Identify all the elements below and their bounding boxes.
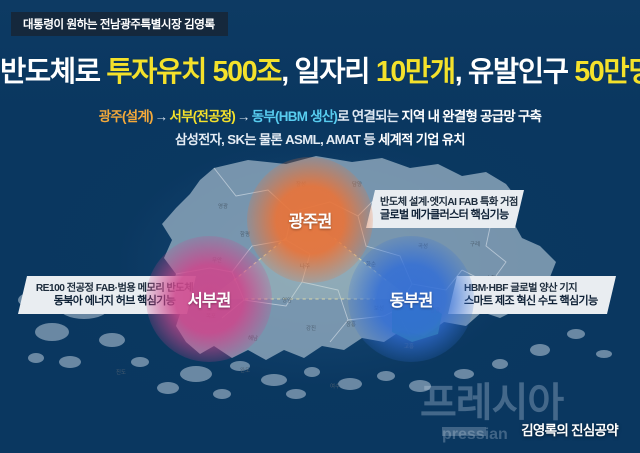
gwangju-panel-line2: 글로벌 메가클러스터 핵심기능 [380, 209, 524, 222]
subline2-bold: 세계적 기업 유치 [378, 132, 465, 147]
hub-node-seobu[interactable]: 서부권 [172, 262, 246, 336]
hub-node-dongbu[interactable]: 동부권 [374, 262, 448, 336]
page-headline: 반도체로 투자유치 500조, 일자리 10만개, 유발인구 50만명 [0, 58, 640, 87]
top-badge: 대통령이 원하는 전남광주특별시장 김영록 [11, 12, 228, 36]
dongbu-panel-line1: HBM·HBF 글로벌 양산 기지 [464, 283, 616, 295]
subline1-gwangju: 광주(설계) [99, 109, 153, 124]
headline-seg-2: , 일자리 [281, 56, 376, 88]
subheadline-line-1: 광주(설계)→서부(전공정)→동부(HBM 생산)로 연결되는 지역 내 완결형… [0, 110, 640, 123]
subline1-emphasis: 지역 내 완결형 공급망 구축 [401, 109, 541, 124]
svg-text:진도: 진도 [116, 368, 126, 376]
svg-text:영암: 영암 [282, 296, 292, 304]
headline-seg-4: , 유발인구 [455, 56, 575, 88]
subline1-arrow-1: → [153, 109, 170, 124]
hub-label-gwangju: 광주권 [289, 208, 332, 232]
hub-label-seobu: 서부권 [188, 287, 231, 311]
footer-tagline: 김영록의 진심공약 [521, 419, 618, 439]
headline-seg-3: 10만개 [376, 56, 455, 88]
headline-seg-1: 투자유치 500조 [106, 56, 281, 88]
subline1-connector: 로 연결되는 [337, 109, 401, 124]
svg-text:강진: 강진 [306, 324, 316, 332]
hub-label-dongbu: 동부권 [390, 287, 433, 311]
svg-text:영광: 영광 [218, 202, 228, 210]
infographic-canvas: 장성 담양 영광 함평 나주 화순 곡성 구례 순천 광양 영암 무안 신안 목… [0, 0, 640, 453]
dongbu-panel-line2: 스마트 제조 혁신 수도 핵심기능 [464, 295, 616, 308]
headline-seg-0: 반도체로 [0, 56, 106, 88]
gwangju-panel-line1: 반도체 설계·엣지AI FAB 특화 거점 [380, 197, 524, 209]
svg-text:완도: 완도 [240, 366, 250, 374]
subline2-normal: 삼성전자, SK는 물론 ASML, AMAT 등 [175, 132, 378, 147]
headline-seg-5: 50만명 [574, 56, 640, 88]
top-badge-label: 대통령이 원하는 전남광주특별시장 김영록 [23, 16, 215, 32]
headline-inner: 반도체로 투자유치 500조, 일자리 10만개, 유발인구 50만명 [0, 58, 640, 87]
subline1-arrow-2: → [235, 109, 252, 124]
subline1-seobu: 서부(전공정) [169, 109, 235, 124]
subline1-dongbu: 동부(HBM 생산) [252, 109, 337, 124]
svg-text:여수: 여수 [330, 382, 340, 390]
annotation-panel-gwangju: 반도체 설계·엣지AI FAB 특화 거점 글로벌 메가클러스터 핵심기능 [366, 190, 524, 228]
subheadline-line-2: 삼성전자, SK는 물론 ASML, AMAT 등 세계적 기업 유치 [0, 133, 640, 146]
hub-node-gwangju[interactable]: 광주권 [273, 183, 347, 257]
svg-text:구례: 구례 [470, 240, 480, 248]
